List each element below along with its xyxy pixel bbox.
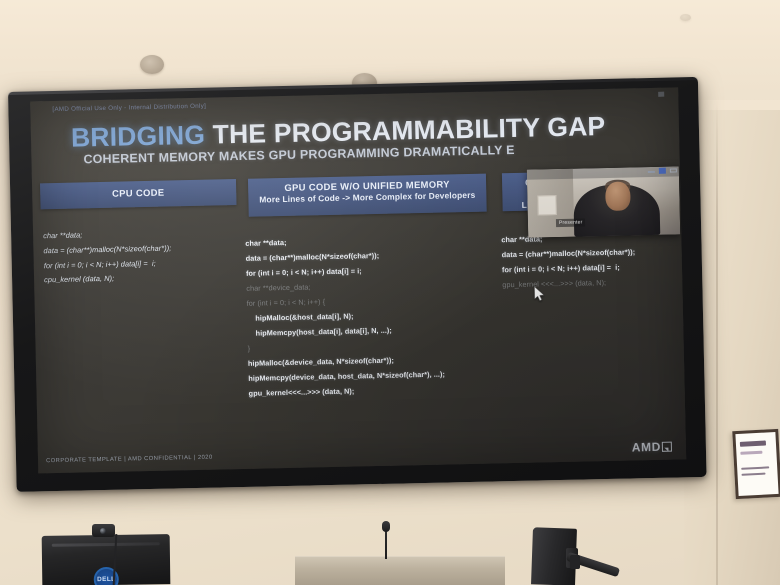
participant-name-label: Presenter <box>556 218 586 227</box>
column-header-cpu-code: CPU CODE <box>40 179 237 209</box>
video-background-object <box>537 195 556 215</box>
column-header-line1: CPU CODE <box>40 186 236 201</box>
code-block-gpu-with-unified-memory: char **data;data = (char**)malloc(N*size… <box>501 229 682 293</box>
ceiling-light-icon <box>680 14 691 21</box>
maximize-icon[interactable] <box>659 168 666 174</box>
dell-logo: DELL <box>94 567 119 585</box>
framed-wall-sign <box>732 429 780 499</box>
code-line: cpu_kernel (data, N); <box>44 269 244 288</box>
conference-room-photo: [AMD Official Use Only - Internal Distri… <box>0 0 780 585</box>
mouse-cursor-icon <box>534 286 545 301</box>
code-block-gpu-no-unified-memory: char **data;data = (char**)malloc(N*size… <box>245 231 499 401</box>
avatar <box>605 181 631 211</box>
classification-banner: [AMD Official Use Only - Internal Distri… <box>52 103 206 113</box>
title-accent-word: BRIDGING <box>71 120 206 153</box>
conference-table <box>295 556 505 585</box>
video-call-window[interactable]: Presenter <box>527 166 680 237</box>
wall-mounted-display: [AMD Official Use Only - Internal Distri… <box>8 77 707 492</box>
amd-logo-text: AMD <box>632 440 661 455</box>
code-block-cpu: char **data;data = (char**)malloc(N*size… <box>43 225 244 289</box>
amd-logo: AMD <box>632 440 672 455</box>
ceiling-light-icon <box>140 55 164 74</box>
minimize-icon[interactable] <box>648 168 655 174</box>
webcam-icon <box>92 524 115 537</box>
table-microphone-icon <box>382 521 390 532</box>
monitor-arm-joint <box>570 555 580 569</box>
left-monitor: DELL <box>42 534 171 585</box>
wall-corner-edge <box>716 100 718 585</box>
window-controls[interactable] <box>648 167 677 174</box>
code-line: gpu_kernel <<<...>>> (data, N); <box>502 274 682 293</box>
screen-share-indicator-icon <box>658 92 664 97</box>
close-icon[interactable] <box>670 167 677 173</box>
amd-arrow-icon <box>662 442 672 452</box>
monitor-top-bar <box>52 542 160 547</box>
column-header-gpu-no-unified-memory: GPU CODE W/O UNIFIED MEMORY More Lines o… <box>248 174 487 217</box>
slide-footer: CORPORATE TEMPLATE | AMD CONFIDENTIAL | … <box>46 455 213 465</box>
presentation-slide: [AMD Official Use Only - Internal Distri… <box>30 87 686 473</box>
